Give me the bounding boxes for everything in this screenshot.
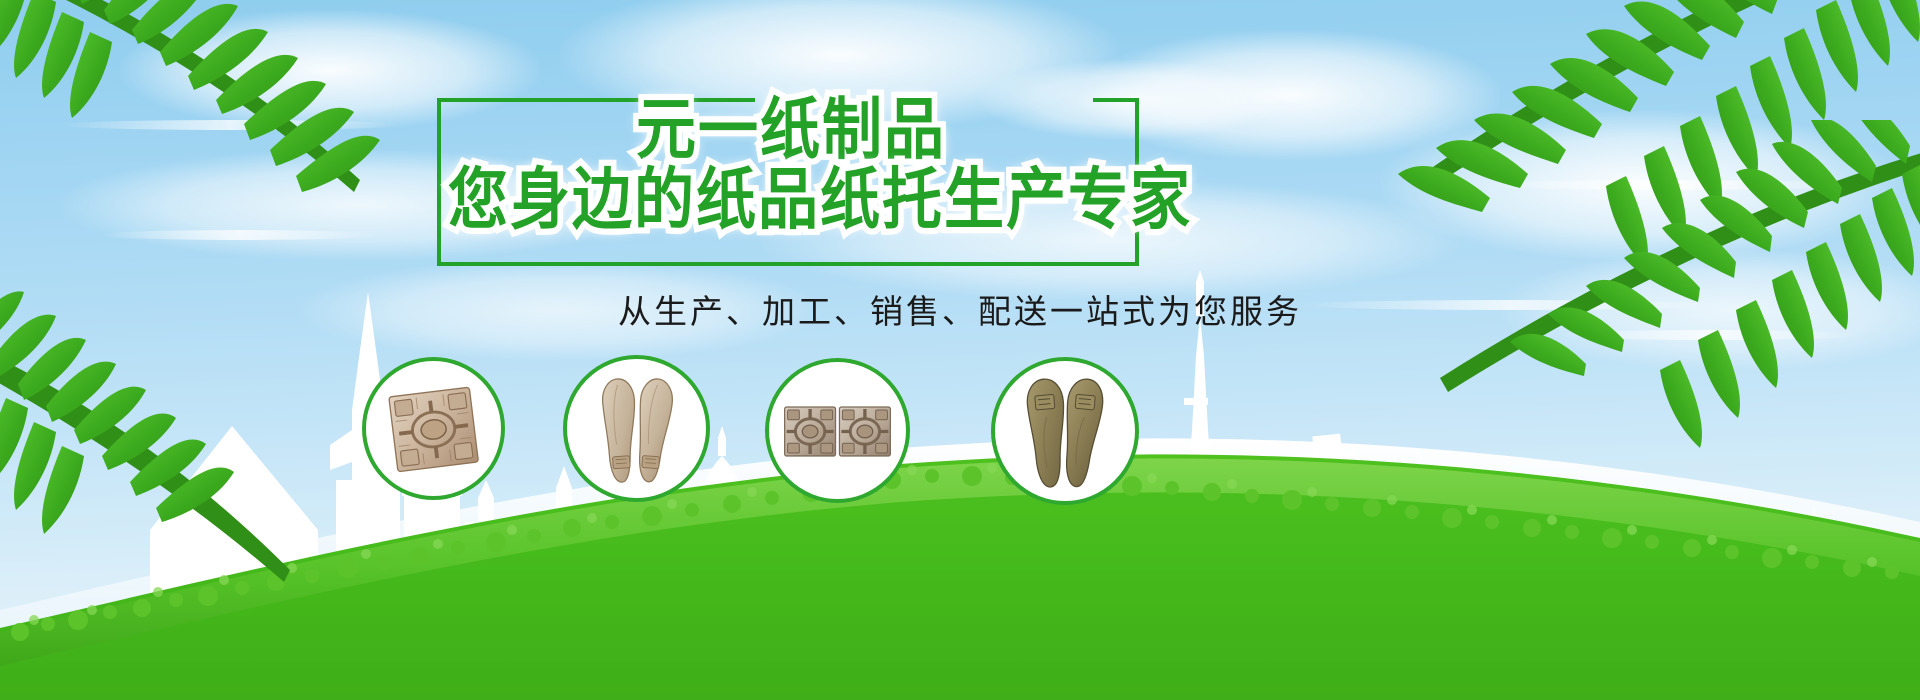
bracket-top-right-rule: [1093, 98, 1139, 102]
banner-subtitle: 从生产、加工、销售、配送一站式为您服务: [0, 285, 1920, 333]
cloud-streak-decoration: [1480, 180, 1860, 190]
product-image-paper-pulp-corner-protectors[interactable]: [765, 358, 910, 503]
product-image-paper-pulp-square-tray[interactable]: [362, 357, 505, 500]
product-image-paper-pulp-shoe-insole-pair[interactable]: [563, 355, 710, 502]
product-image-paper-pulp-shoe-last-pair[interactable]: [991, 357, 1139, 505]
paper-pulp-square-tray-icon: [366, 361, 501, 496]
headline-frame: 元一纸制品 您身边的纸品纸托生产专家: [437, 98, 1139, 266]
paper-pulp-corner-protectors-icon: [769, 362, 906, 499]
green-hill-shape: [0, 280, 1920, 700]
cloud-decoration: [1080, 30, 1500, 160]
paper-pulp-shoe-last-pair-icon: [995, 361, 1135, 501]
headline-line-2: 您身边的纸品纸托生产专家: [448, 145, 1192, 242]
paper-pulp-shoe-insole-pair-icon: [567, 359, 706, 498]
cloud-streak-decoration: [60, 120, 400, 130]
promotional-banner: 元一纸制品 您身边的纸品纸托生产专家 从生产、加工、销售、配送一站式为您服务: [0, 0, 1920, 700]
